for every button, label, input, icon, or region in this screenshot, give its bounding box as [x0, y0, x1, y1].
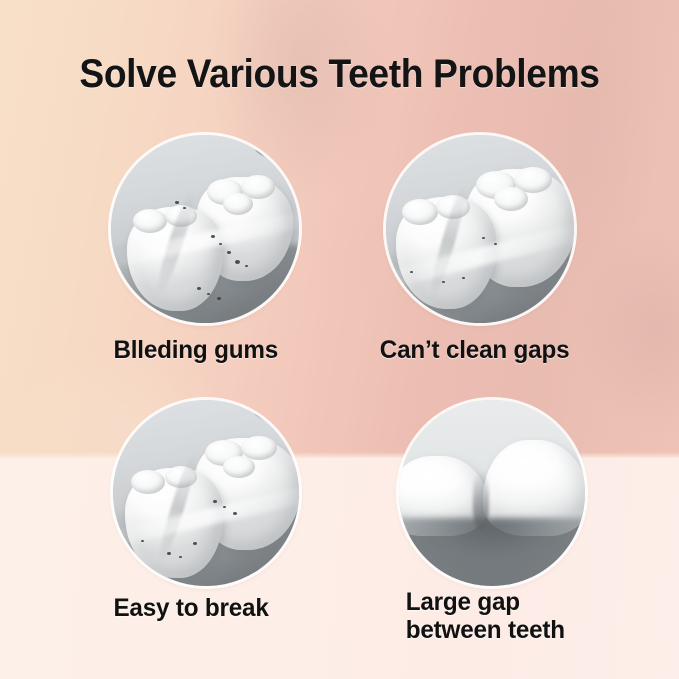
plaque-speck [482, 237, 485, 239]
feature-caption-large-gap-between-teeth: Large gap between teeth [406, 588, 649, 644]
feature-image-large-gap-between-teeth [399, 400, 585, 586]
molar-cusp [223, 193, 253, 215]
gum-shadow [399, 518, 585, 586]
plaque-speck [410, 271, 413, 273]
plaque-speck [213, 500, 217, 503]
enamel-glint [429, 464, 442, 473]
plaque-speck [183, 207, 186, 209]
plaque-speck [462, 277, 465, 279]
plaque-speck [494, 243, 497, 245]
feature-caption-cant-clean-gaps: Can’t clean gaps [380, 336, 623, 364]
plaque-speck [179, 556, 182, 558]
plaque-speck [141, 540, 144, 542]
feature-image-easy-to-break [113, 400, 299, 586]
enamel-glint [511, 458, 523, 467]
plaque-speck [233, 512, 237, 515]
page-title: Solve Various Teeth Problems [24, 52, 655, 97]
plaque-speck [175, 201, 179, 204]
plaque-speck [223, 506, 226, 508]
plaque-speck [197, 287, 201, 290]
poster: Solve Various Teeth Problems [0, 0, 679, 679]
molar-cusp [131, 470, 165, 494]
plaque-speck [211, 235, 215, 238]
feature-image-bleeding-gums [111, 135, 299, 323]
feature-image-cant-clean-gaps [386, 135, 574, 323]
plaque-speck [227, 251, 231, 254]
feature-caption-easy-to-break: Easy to break [113, 594, 336, 622]
plaque-speck [442, 281, 445, 283]
molar-cusp [494, 187, 528, 211]
molar-cusp [402, 199, 438, 225]
plaque-speck [167, 552, 171, 555]
plaque-speck [193, 542, 197, 545]
plaque-speck [219, 243, 222, 245]
molar-cusp [133, 209, 167, 233]
plaque-speck [235, 260, 240, 264]
feature-caption-bleeding-gums: Blleding gums [113, 336, 336, 364]
plaque-speck [217, 297, 221, 300]
plaque-speck [207, 293, 210, 295]
molar-cusp [223, 456, 255, 478]
plaque-speck [245, 265, 248, 267]
